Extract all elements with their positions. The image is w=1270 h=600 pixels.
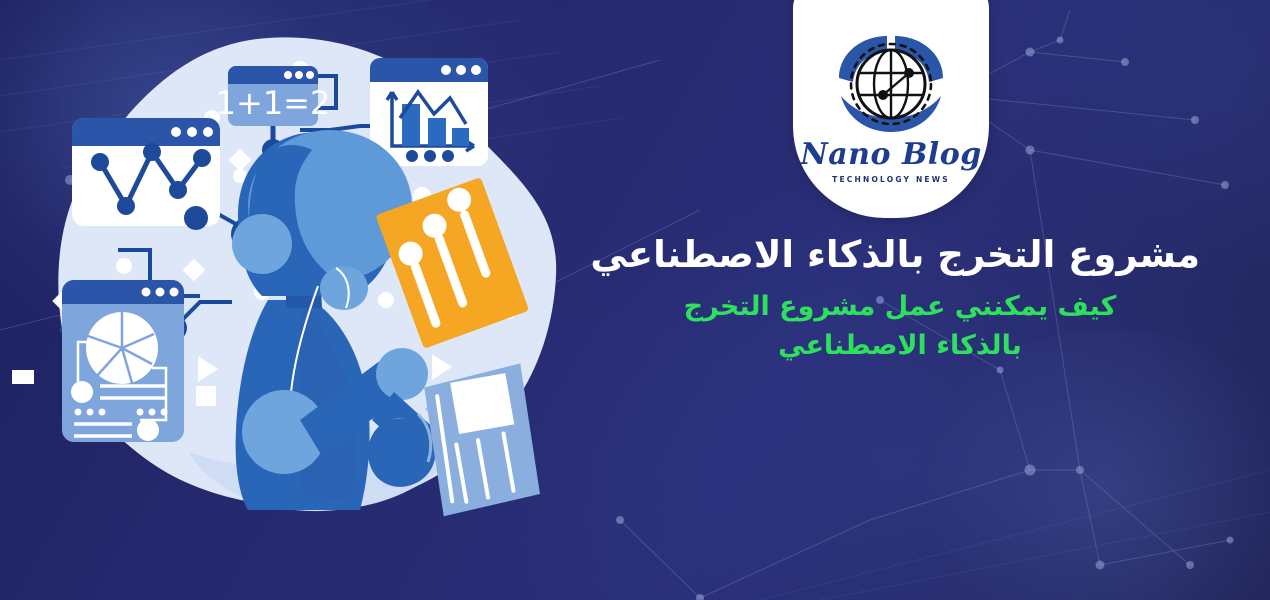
nano-blog-logo[interactable]: Nano Blog TECHNOLOGY NEWS	[793, 0, 989, 218]
page-title: مشروع التخرج بالذكاء الاصطناعي	[600, 232, 1200, 278]
headline-block: مشروع التخرج بالذكاء الاصطناعي كيف يمكنن…	[600, 232, 1200, 365]
line-chart-window	[72, 118, 220, 230]
banner-root: 1+1=2	[0, 0, 1270, 600]
pie-chart	[86, 312, 158, 384]
equation-text: 1+1=2	[216, 84, 331, 122]
logo-wordmark: Nano Blog	[800, 140, 981, 170]
globe-network-icon	[825, 26, 957, 138]
logo-tagline: TECHNOLOGY NEWS	[832, 175, 950, 184]
subtitle-line-2: بالذكاء الاصطناعي	[600, 327, 1200, 365]
background-glow-right	[900, 330, 1270, 600]
subtitle-line-1: كيف يمكنني عمل مشروع التخرج	[600, 288, 1200, 326]
document-panel	[423, 363, 541, 517]
page-subtitle: كيف يمكنني عمل مشروع التخرج بالذكاء الاص…	[600, 288, 1200, 365]
bar-chart-window	[370, 58, 488, 166]
pie-dashboard-panel	[62, 280, 184, 442]
ai-robot-analytics-illustration: 1+1=2	[0, 0, 600, 600]
